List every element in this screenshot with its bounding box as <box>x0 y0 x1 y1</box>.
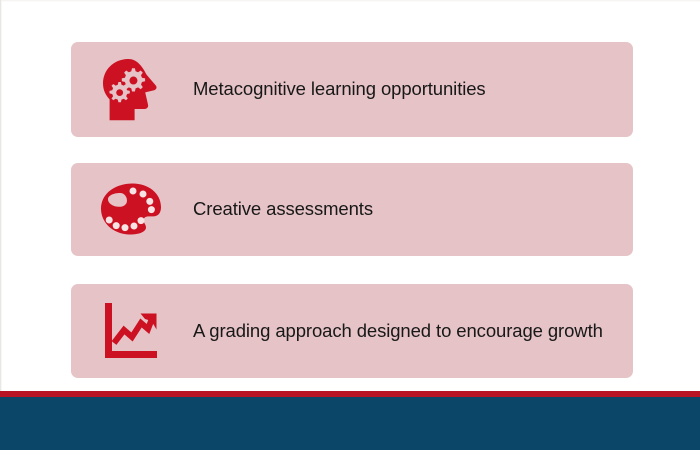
card-label-creative-assessments: Creative assessments <box>193 197 603 221</box>
card-label-metacognitive: Metacognitive learning opportunities <box>193 77 603 101</box>
paint-palette-icon <box>93 182 169 238</box>
content-card-creative-assessments: Creative assessments <box>71 163 633 256</box>
slide-canvas: Metacognitive learning opportunities <box>0 0 700 450</box>
growth-chart-icon <box>93 301 169 361</box>
slide-left-edge <box>0 0 2 450</box>
head-gears-icon <box>93 57 169 123</box>
content-card-metacognitive: Metacognitive learning opportunities <box>71 42 633 137</box>
card-label-grading-approach: A grading approach designed to encourage… <box>193 319 603 343</box>
content-card-grading-approach: A grading approach designed to encourage… <box>71 284 633 378</box>
footer-bar <box>0 397 700 450</box>
slide-top-edge <box>0 0 700 2</box>
